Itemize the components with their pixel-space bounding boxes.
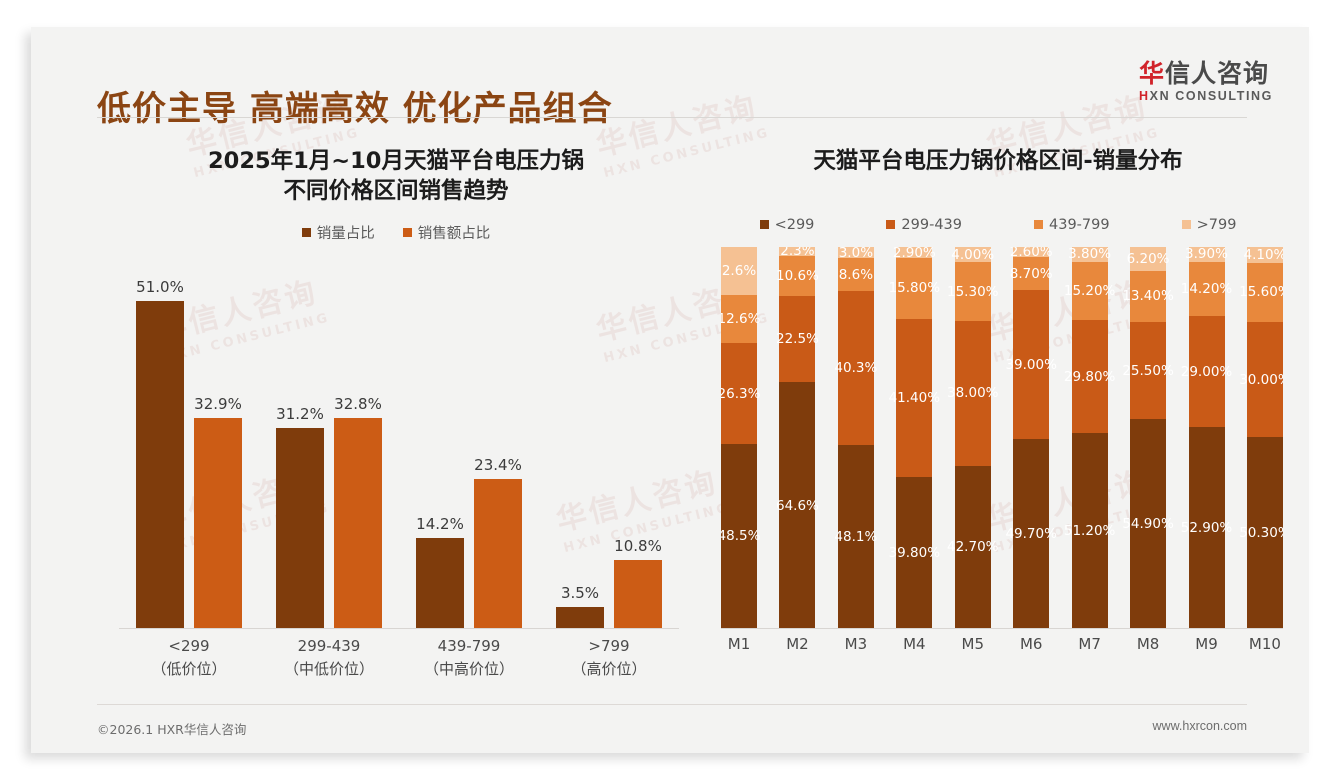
stack-segment[interactable]: 38.00% xyxy=(955,321,991,466)
logo-h-glyph: H xyxy=(1139,89,1150,103)
stack-segment[interactable]: 10.6% xyxy=(779,256,815,296)
stack-segment[interactable]: 3.80% xyxy=(1072,247,1108,262)
x-axis-label: M10 xyxy=(1247,635,1283,653)
stack-segment[interactable]: 8.6% xyxy=(838,258,874,291)
x-axis-label: 439-799（中高价位） xyxy=(399,635,539,680)
segment-value-label: 48.1% xyxy=(834,529,877,545)
segment-value-label: 30.00% xyxy=(1239,372,1283,388)
segment-value-label: 64.6% xyxy=(776,498,819,514)
stack-segment[interactable]: 4.10% xyxy=(1247,247,1283,263)
stack-segment[interactable]: 29.00% xyxy=(1189,316,1225,427)
segment-value-label: 41.40% xyxy=(889,390,940,406)
legend-item[interactable]: 299-439 xyxy=(886,217,962,233)
x-axis-label: M5 xyxy=(955,635,991,653)
legend-left: 销量占比销售额占比 xyxy=(91,222,701,243)
bar-value-label: 32.8% xyxy=(334,395,382,413)
stack-segment[interactable]: 15.20% xyxy=(1072,262,1108,320)
segment-value-label: 3.80% xyxy=(1068,247,1111,262)
stack-segment[interactable]: 15.60% xyxy=(1247,263,1283,323)
x-axis-label-sub: （低价位） xyxy=(119,658,259,681)
legend-label: 439-799 xyxy=(1049,217,1110,233)
stack-segment[interactable]: 49.70% xyxy=(1013,439,1049,629)
bar-value-label: 23.4% xyxy=(474,456,522,474)
bar-groups: 51.0%32.9%31.2%32.8%14.2%23.4%3.5%10.8% xyxy=(119,269,679,629)
segment-value-label: 29.00% xyxy=(1181,364,1232,380)
stack-segment[interactable]: 22.5% xyxy=(779,296,815,382)
x-axis-label-main: >799 xyxy=(588,637,629,655)
bar-value-label: 32.9% xyxy=(194,395,242,413)
legend-label: 299-439 xyxy=(901,217,962,233)
stack-segment[interactable]: 14.20% xyxy=(1189,262,1225,316)
stack-segment[interactable]: 2.60% xyxy=(1013,247,1049,257)
bar-group: 31.2%32.8% xyxy=(259,269,399,629)
x-axis-label: M6 xyxy=(1013,635,1049,653)
bar[interactable]: 51.0% xyxy=(136,301,184,629)
stack-segment[interactable]: 8.70% xyxy=(1013,257,1049,290)
stack-segment[interactable]: 30.00% xyxy=(1247,322,1283,437)
legend-right: <299299-439439-799>799 xyxy=(703,217,1293,233)
legend-swatch-icon xyxy=(403,228,412,237)
x-axis-label: M9 xyxy=(1189,635,1225,653)
footer-divider xyxy=(97,704,1247,705)
segment-value-label: 50.30% xyxy=(1239,525,1283,541)
stack-segment[interactable]: 2.3% xyxy=(779,247,815,256)
x-axis-label: >799（高价位） xyxy=(539,635,679,680)
bar[interactable]: 14.2% xyxy=(416,538,464,629)
bar[interactable]: 32.9% xyxy=(194,418,242,630)
website-url[interactable]: www.hxrcon.com xyxy=(1153,719,1247,733)
chart-panel-left: 2025年1月~10月天猫平台电压力锅 不同价格区间销售趋势 销量占比销售额占比… xyxy=(91,119,701,704)
legend-item[interactable]: 销售额占比 xyxy=(403,222,491,243)
bar-value-label: 3.5% xyxy=(561,584,599,602)
stack-segment[interactable]: 42.70% xyxy=(955,466,991,629)
segment-value-label: 29.80% xyxy=(1064,369,1115,385)
logo-cn-rest: 信人咨询 xyxy=(1165,59,1269,88)
stacked-bars: 2.6%12.6%26.3%48.5%2.3%10.6%22.5%64.6%3.… xyxy=(721,247,1283,629)
bar-group: 14.2%23.4% xyxy=(399,269,539,629)
slide-header: 低价主导 高端高效 优化产品组合 华信人咨询 HXN CONSULTING xyxy=(31,27,1309,119)
stack-segment[interactable]: 25.50% xyxy=(1130,322,1166,419)
x-axis-label-sub: （高价位） xyxy=(539,658,679,681)
segment-value-label: 49.70% xyxy=(1005,526,1056,542)
stacked-bar[interactable]: 4.00%15.30%38.00%42.70% xyxy=(955,247,991,629)
stack-segment[interactable]: 41.40% xyxy=(896,319,932,477)
x-axis-label-main: 439-799 xyxy=(438,637,501,655)
stacked-bar[interactable]: 2.90%15.80%41.40%39.80% xyxy=(896,247,932,629)
bar[interactable]: 3.5% xyxy=(556,607,604,630)
x-axis-label: M3 xyxy=(838,635,874,653)
stack-segment[interactable]: 40.3% xyxy=(838,291,874,445)
legend-item[interactable]: 439-799 xyxy=(1034,217,1110,233)
x-axis-label: M8 xyxy=(1130,635,1166,653)
x-axis-line xyxy=(721,628,1283,629)
logo-chinese: 华信人咨询 xyxy=(1139,61,1273,87)
segment-value-label: 48.5% xyxy=(721,528,760,544)
x-axis-label: M7 xyxy=(1072,635,1108,653)
stack-segment[interactable]: 6.20% xyxy=(1130,247,1166,271)
x-axis-label: M2 xyxy=(779,635,815,653)
x-axis-labels-right: M1M2M3M4M5M6M7M8M9M10 xyxy=(721,635,1283,653)
stack-segment[interactable]: 4.00% xyxy=(955,247,991,262)
stack-segment[interactable]: 29.80% xyxy=(1072,320,1108,434)
stacked-bar[interactable]: 3.80%15.20%29.80%51.20% xyxy=(1072,247,1108,629)
stack-segment[interactable]: 39.00% xyxy=(1013,290,1049,439)
stack-segment[interactable]: 3.0% xyxy=(838,247,874,258)
stack-segment[interactable]: 3.90% xyxy=(1189,247,1225,262)
bar-value-label: 10.8% xyxy=(614,537,662,555)
bar[interactable]: 10.8% xyxy=(614,560,662,629)
bar[interactable]: 32.8% xyxy=(334,418,382,629)
slide-canvas: 华信人咨询 HXN CONSULTING 华信人咨询 HXN CONSULTIN… xyxy=(31,27,1309,753)
header-divider xyxy=(97,117,1247,118)
segment-value-label: 38.00% xyxy=(947,385,998,401)
legend-swatch-icon xyxy=(1034,220,1043,229)
plot-area-right: 2.6%12.6%26.3%48.5%2.3%10.6%22.5%64.6%3.… xyxy=(721,247,1283,629)
x-axis-label-sub: （中低价位） xyxy=(259,658,399,681)
legend-label: 销售额占比 xyxy=(418,222,491,243)
bar-group: 3.5%10.8% xyxy=(539,269,679,629)
legend-item[interactable]: 销量占比 xyxy=(302,222,375,243)
segment-value-label: 8.70% xyxy=(1010,266,1053,282)
slide-footer: ©2026.1 HXR华信人咨询 www.hxrcon.com xyxy=(31,704,1309,753)
stack-segment[interactable]: 39.80% xyxy=(896,477,932,629)
stacked-bar[interactable]: 6.20%13.40%25.50%54.90% xyxy=(1130,247,1166,629)
segment-value-label: 51.20% xyxy=(1064,523,1115,539)
stacked-bar[interactable]: 2.6%12.6%26.3%48.5% xyxy=(721,247,757,629)
x-axis-line xyxy=(119,628,679,629)
segment-value-label: 15.20% xyxy=(1064,283,1115,299)
segment-value-label: 39.80% xyxy=(889,545,940,561)
stacked-bar[interactable]: 4.10%15.60%30.00%50.30% xyxy=(1247,247,1283,629)
segment-value-label: 13.40% xyxy=(1122,288,1173,304)
stacked-bar[interactable]: 2.60%8.70%39.00%49.70% xyxy=(1013,247,1049,629)
segment-value-label: 26.3% xyxy=(721,386,760,402)
stack-segment[interactable]: 15.30% xyxy=(955,262,991,320)
legend-label: 销量占比 xyxy=(317,222,375,243)
x-axis-label: 299-439（中低价位） xyxy=(259,635,399,680)
legend-item[interactable]: <299 xyxy=(760,217,815,233)
chart-title-left: 2025年1月~10月天猫平台电压力锅 不同价格区间销售趋势 xyxy=(91,147,701,206)
segment-value-label: 10.6% xyxy=(776,268,819,284)
stack-segment[interactable]: 15.80% xyxy=(896,258,932,318)
chart-title-right: 天猫平台电压力锅价格区间-销量分布 xyxy=(703,147,1293,177)
company-logo: 华信人咨询 HXN CONSULTING xyxy=(1139,61,1273,103)
segment-value-label: 52.90% xyxy=(1181,520,1232,536)
segment-value-label: 2.6% xyxy=(722,263,756,279)
bar-group: 51.0%32.9% xyxy=(119,269,259,629)
bar-value-label: 31.2% xyxy=(276,405,324,423)
legend-swatch-icon xyxy=(886,220,895,229)
legend-swatch-icon xyxy=(302,228,311,237)
x-axis-label: M4 xyxy=(896,635,932,653)
x-axis-label-main: <299 xyxy=(168,637,209,655)
segment-value-label: 4.00% xyxy=(951,247,994,263)
stack-segment[interactable]: 48.1% xyxy=(838,445,874,629)
stack-segment[interactable]: 54.90% xyxy=(1130,419,1166,629)
segment-value-label: 8.6% xyxy=(839,267,873,283)
legend-swatch-icon xyxy=(1182,220,1191,229)
legend-swatch-icon xyxy=(760,220,769,229)
segment-value-label: 15.80% xyxy=(889,280,940,296)
segment-value-label: 25.50% xyxy=(1122,363,1173,379)
stack-segment[interactable]: 51.20% xyxy=(1072,433,1108,629)
bar[interactable]: 31.2% xyxy=(276,428,324,629)
charts-region: 2025年1月~10月天猫平台电压力锅 不同价格区间销售趋势 销量占比销售额占比… xyxy=(31,119,1309,704)
stack-segment[interactable]: 2.6% xyxy=(721,247,757,295)
stacked-bar[interactable]: 3.0%8.6%40.3%48.1% xyxy=(838,247,874,629)
plot-area-left: 51.0%32.9%31.2%32.8%14.2%23.4%3.5%10.8% xyxy=(119,269,679,629)
segment-value-label: 54.90% xyxy=(1122,516,1173,532)
stack-segment[interactable]: 13.40% xyxy=(1130,271,1166,322)
x-axis-label: M1 xyxy=(721,635,757,653)
stacked-bar[interactable]: 3.90%14.20%29.00%52.90% xyxy=(1189,247,1225,629)
copyright-text: ©2026.1 HXR华信人咨询 xyxy=(97,719,246,738)
segment-value-label: 15.30% xyxy=(947,284,998,300)
segment-value-label: 15.60% xyxy=(1239,284,1283,300)
logo-hua-glyph: 华 xyxy=(1139,59,1165,88)
stack-segment[interactable]: 50.30% xyxy=(1247,437,1283,629)
segment-value-label: 22.5% xyxy=(776,331,819,347)
legend-label: >799 xyxy=(1197,217,1237,233)
segment-value-label: 40.3% xyxy=(834,360,877,376)
logo-english: HXN CONSULTING xyxy=(1139,89,1273,103)
segment-value-label: 3.90% xyxy=(1185,247,1228,262)
legend-label: <299 xyxy=(775,217,815,233)
segment-value-label: 14.20% xyxy=(1181,281,1232,297)
segment-value-label: 39.00% xyxy=(1005,357,1056,373)
bar-value-label: 14.2% xyxy=(416,515,464,533)
segment-value-label: 42.70% xyxy=(947,539,998,555)
legend-item[interactable]: >799 xyxy=(1182,217,1237,233)
logo-en-rest: XN CONSULTING xyxy=(1150,89,1273,103)
stacked-bar[interactable]: 2.3%10.6%22.5%64.6% xyxy=(779,247,815,629)
segment-value-label: 12.6% xyxy=(721,311,760,327)
x-axis-labels-left: <299（低价位）299-439（中低价位）439-799（中高价位）>799（… xyxy=(119,635,679,680)
stack-segment[interactable]: 48.5% xyxy=(721,444,757,629)
x-axis-label: <299（低价位） xyxy=(119,635,259,680)
x-axis-label-main: 299-439 xyxy=(298,637,361,655)
segment-value-label: 4.10% xyxy=(1243,247,1283,263)
stack-segment[interactable]: 12.6% xyxy=(721,295,757,343)
bar-value-label: 51.0% xyxy=(136,278,184,296)
stack-segment[interactable]: 52.90% xyxy=(1189,427,1225,629)
bar[interactable]: 23.4% xyxy=(474,479,522,629)
stack-segment[interactable]: 64.6% xyxy=(779,382,815,629)
x-axis-label-sub: （中高价位） xyxy=(399,658,539,681)
segment-value-label: 6.20% xyxy=(1127,251,1170,267)
stack-segment[interactable]: 2.90% xyxy=(896,247,932,258)
chart-panel-right: 天猫平台电压力锅价格区间-销量分布 <299299-439439-799>799… xyxy=(703,119,1293,704)
stack-segment[interactable]: 26.3% xyxy=(721,343,757,443)
